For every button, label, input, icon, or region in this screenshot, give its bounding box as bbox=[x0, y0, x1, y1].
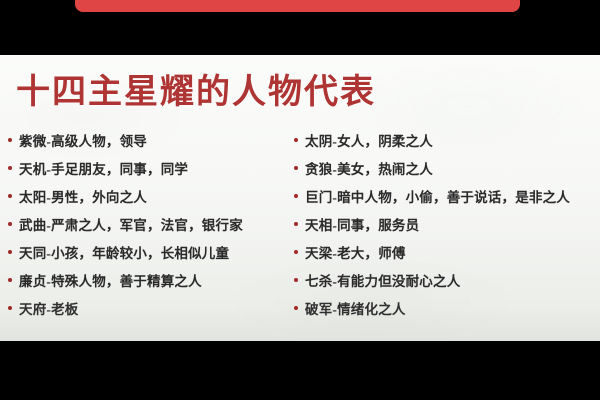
list-item: 天府-老板 bbox=[8, 301, 293, 329]
list-item: 紫微-高级人物，领导 bbox=[8, 133, 293, 161]
slide-top-edge bbox=[0, 55, 600, 56]
bullet-dot-icon bbox=[294, 194, 298, 198]
list-item: 贪狼-美女，热闹之人 bbox=[294, 161, 594, 189]
list-item-label: 太阳-男性，外向之人 bbox=[19, 189, 147, 207]
list-item-label: 巨门-暗中人物，小偷，善于说话，是非之人 bbox=[305, 189, 570, 207]
bullet-dot-icon bbox=[8, 278, 12, 282]
bullet-dot-icon bbox=[8, 222, 12, 226]
list-item-label: 天府-老板 bbox=[19, 301, 79, 319]
letterbox-bar-bottom bbox=[0, 341, 600, 400]
list-item: 七杀-有能力但没耐心之人 bbox=[294, 273, 594, 301]
red-banner bbox=[75, 0, 520, 12]
bullet-dot-icon bbox=[294, 222, 298, 226]
list-item-label: 太阴-女人，阴柔之人 bbox=[305, 133, 433, 151]
bullet-column-right: 太阴-女人，阴柔之人 贪狼-美女，热闹之人 巨门-暗中人物，小偷，善于说话，是非… bbox=[294, 133, 594, 329]
slide-content-area: 十四主星耀的人物代表 紫微-高级人物，领导 天机-手足朋友，同事，同学 太阳-男… bbox=[0, 55, 600, 341]
bullet-dot-icon bbox=[294, 250, 298, 254]
list-item: 廉贞-特殊人物，善于精算之人 bbox=[8, 273, 293, 301]
bullet-dot-icon bbox=[294, 278, 298, 282]
list-item-label: 贪狼-美女，热闹之人 bbox=[305, 161, 433, 179]
bullet-dot-icon bbox=[8, 194, 12, 198]
list-item: 太阴-女人，阴柔之人 bbox=[294, 133, 594, 161]
page-title: 十四主星耀的人物代表 bbox=[16, 72, 376, 114]
list-item-label: 天机-手足朋友，同事，同学 bbox=[19, 161, 188, 179]
list-item: 破军-情绪化之人 bbox=[294, 301, 594, 329]
bullet-dot-icon bbox=[8, 306, 12, 310]
bullet-dot-icon bbox=[294, 306, 298, 310]
list-item: 巨门-暗中人物，小偷，善于说话，是非之人 bbox=[294, 189, 594, 217]
list-item-label: 天梁-老大，师傅 bbox=[305, 245, 406, 263]
list-item-label: 廉贞-特殊人物，善于精算之人 bbox=[19, 273, 202, 291]
bullet-dot-icon bbox=[8, 250, 12, 254]
list-item: 太阳-男性，外向之人 bbox=[8, 189, 293, 217]
list-item-label: 天相-同事，服务员 bbox=[305, 217, 419, 235]
list-item: 武曲-严肃之人，军官，法官，银行家 bbox=[8, 217, 293, 245]
bullet-dot-icon bbox=[294, 138, 298, 142]
bullet-dot-icon bbox=[8, 138, 12, 142]
slide-screenshot: 十四主星耀的人物代表 紫微-高级人物，领导 天机-手足朋友，同事，同学 太阳-男… bbox=[0, 0, 600, 400]
list-item-label: 破军-情绪化之人 bbox=[305, 301, 406, 319]
list-item-label: 天同-小孩，年龄较小，长相似儿童 bbox=[19, 245, 229, 263]
list-item-label: 紫微-高级人物，领导 bbox=[19, 133, 147, 151]
list-item-label: 七杀-有能力但没耐心之人 bbox=[305, 273, 460, 291]
list-item: 天同-小孩，年龄较小，长相似儿童 bbox=[8, 245, 293, 273]
list-item: 天相-同事，服务员 bbox=[294, 217, 594, 245]
list-item: 天机-手足朋友，同事，同学 bbox=[8, 161, 293, 189]
list-item: 天梁-老大，师傅 bbox=[294, 245, 594, 273]
bullet-dot-icon bbox=[8, 166, 12, 170]
bullet-dot-icon bbox=[294, 166, 298, 170]
bullet-column-left: 紫微-高级人物，领导 天机-手足朋友，同事，同学 太阳-男性，外向之人 武曲-严… bbox=[8, 133, 293, 329]
list-item-label: 武曲-严肃之人，军官，法官，银行家 bbox=[19, 217, 243, 235]
